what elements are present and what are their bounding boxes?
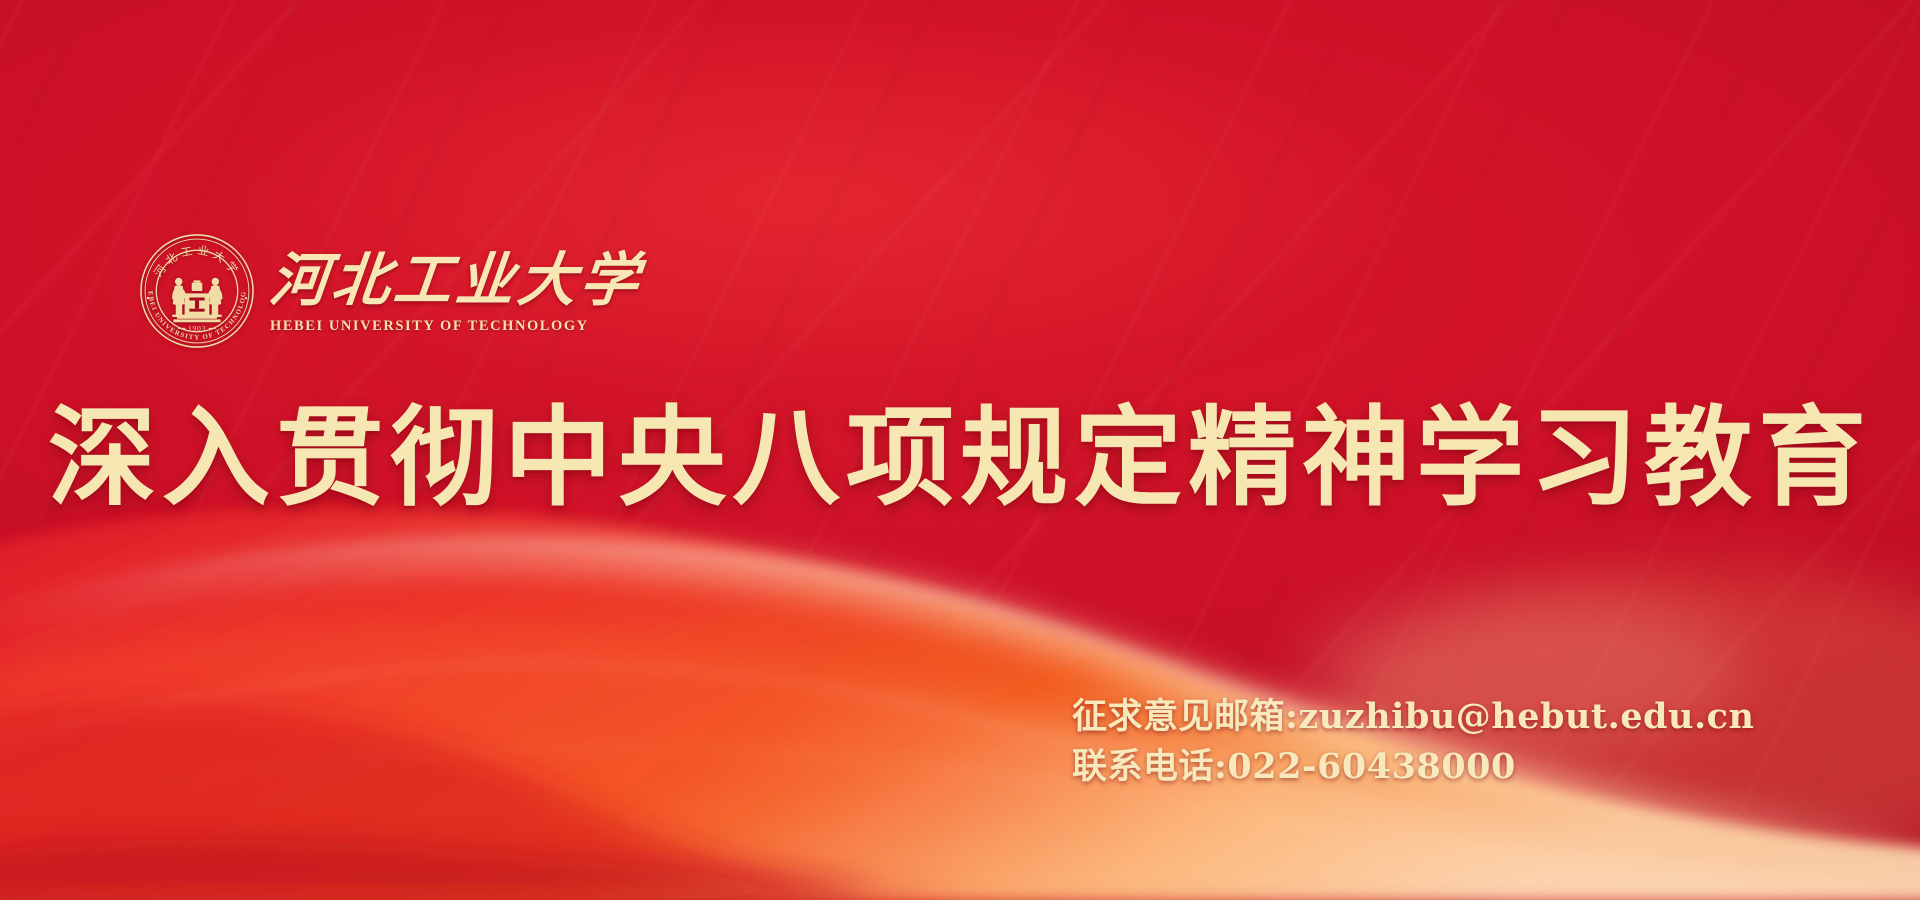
university-seal-emblem: 河北工业大学 HEBEI UNIVERSITY OF TECHNOLOGY: [138, 232, 256, 350]
svg-text:河北工业大学: 河北工业大学: [152, 244, 244, 280]
contact-phone-line: 联系电话:022-60438000: [1072, 742, 1754, 792]
banner-canvas: 河北工业大学 HEBEI UNIVERSITY OF TECHNOLOGY: [0, 0, 1920, 900]
university-name-en: HEBEI UNIVERSITY OF TECHNOLOGY: [270, 318, 642, 335]
seal-figure-right: [208, 278, 223, 317]
university-wordmark: 河北工业大学 HEBEI UNIVERSITY OF TECHNOLOGY: [270, 247, 642, 334]
seal-central-scene: [172, 278, 222, 322]
banner-headline: 深入贯彻中央八项规定精神学习教育: [0, 398, 1920, 519]
svg-text:1903: 1903: [188, 324, 206, 333]
university-logo-lockup: 河北工业大学 HEBEI UNIVERSITY OF TECHNOLOGY: [138, 232, 642, 350]
seal-figure-left: [172, 278, 186, 317]
contact-block: 征求意见邮箱:zuzhibu@hebut.edu.cn 联系电话:022-604…: [1072, 692, 1754, 791]
university-name-cn: 河北工业大学: [267, 251, 645, 310]
contact-email-line: 征求意见邮箱:zuzhibu@hebut.edu.cn: [1072, 692, 1754, 742]
seal-year: 1903: [178, 324, 216, 333]
